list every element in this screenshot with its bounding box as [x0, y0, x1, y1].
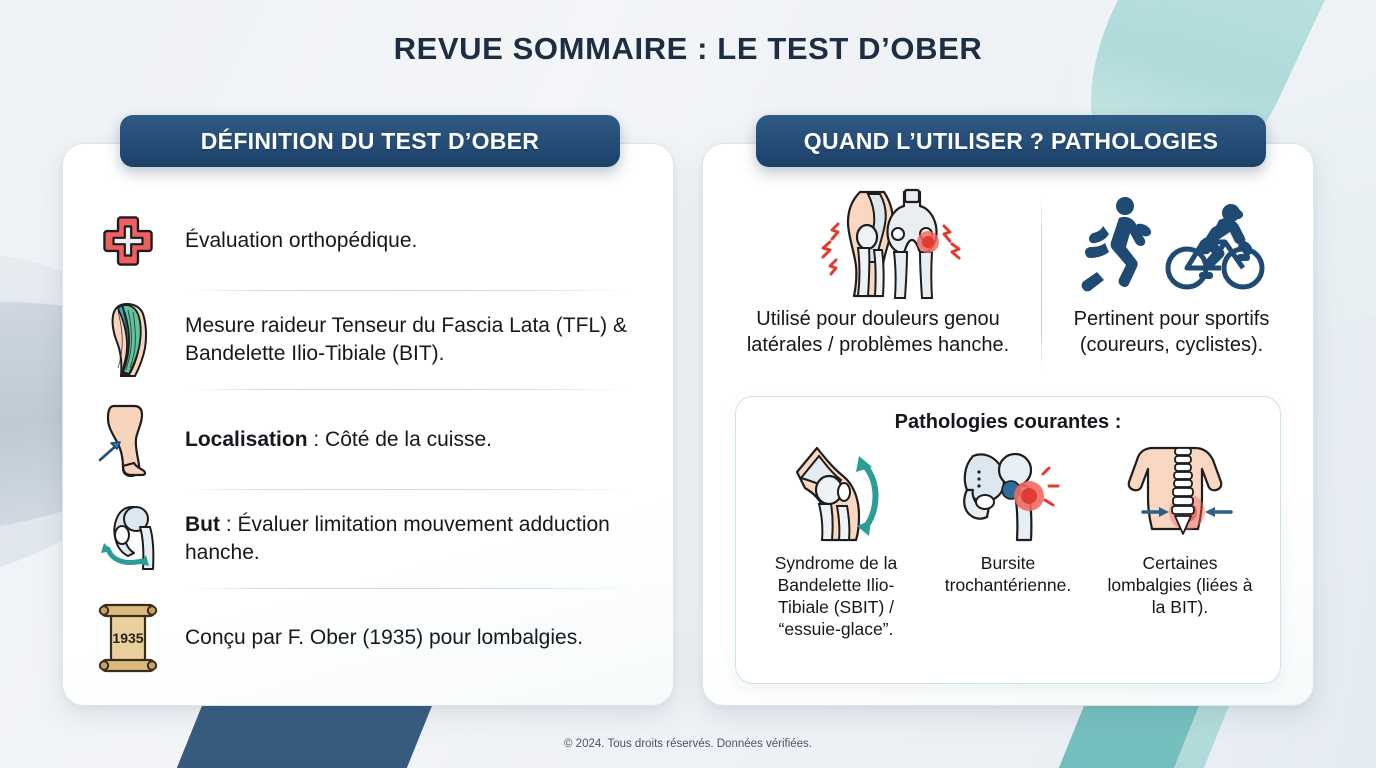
definition-list: Évaluation orthopédique. — [63, 192, 673, 687]
list-item[interactable]: Mesure raideur Tenseur du Fascia Lata (T… — [93, 291, 647, 389]
use-cases-divider — [1041, 196, 1042, 370]
leg-side-arrow-icon — [93, 403, 163, 477]
list-item-label-rest: : Côté de la cuisse. — [308, 428, 492, 451]
pathology-caption: Certaines lombalgies (liées à la BIT). — [1094, 552, 1266, 618]
pathology-item[interactable]: Syndrome de la Bandelette Ilio-Tibiale (… — [750, 440, 922, 668]
pathologies-card: QUAND L’UTILISER ? PATHOLOGIES — [702, 143, 1314, 706]
pathology-caption: Bursite trochantérienne. — [922, 552, 1094, 596]
use-case-icons — [814, 188, 942, 300]
common-pathologies-grid: Syndrome de la Bandelette Ilio-Tibiale (… — [750, 440, 1266, 668]
list-item-label-rest: : Évaluer limitation mouvement adduction… — [185, 513, 610, 564]
list-item-label-bold: But — [185, 513, 220, 536]
common-pathologies-card: Pathologies courantes : — [735, 396, 1281, 684]
list-item-label: Mesure raideur Tenseur du Fascia Lata (T… — [185, 312, 647, 368]
list-item[interactable]: Localisation : Côté de la cuisse. — [93, 390, 647, 488]
definition-card-header: DÉFINITION DU TEST D’OBER — [120, 115, 620, 167]
footer-copyright: © 2024. Tous droits réservés. Données vé… — [0, 738, 1376, 750]
definition-card: DÉFINITION DU TEST D’OBER Évaluation ort… — [62, 143, 674, 706]
use-case-caption: Utilisé pour douleurs genou latérales / … — [729, 306, 1027, 358]
medical-cross-icon — [93, 204, 163, 278]
use-case-caption: Pertinent pour sportifs (coureurs, cycli… — [1056, 306, 1287, 358]
use-cases-area: Utilisé pour douleurs genou latérales / … — [719, 188, 1297, 384]
common-pathologies-title: Pathologies courantes : — [750, 411, 1266, 434]
scroll-1935-icon: 1935 — [93, 601, 163, 675]
knee-itband-motion-icon — [781, 440, 891, 544]
cyclist-icon — [1165, 194, 1265, 294]
use-case-knee-hip[interactable]: Utilisé pour douleurs genou latérales / … — [719, 188, 1037, 358]
thigh-muscle-tfl-icon — [93, 303, 163, 377]
pathology-item[interactable]: Bursite trochantérienne. — [922, 440, 1094, 668]
list-item[interactable]: 1935 Conçu par F. Ober (1935) pour lomba… — [93, 589, 647, 687]
list-item-label: Localisation : Côté de la cuisse. — [185, 426, 492, 454]
low-back-spine-icon — [1125, 440, 1235, 544]
pathology-item[interactable]: Certaines lombalgies (liées à la BIT). — [1094, 440, 1266, 668]
list-item-label: Conçu par F. Ober (1935) pour lombalgies… — [185, 624, 583, 652]
list-item[interactable]: But : Évaluer limitation mouvement adduc… — [93, 490, 647, 588]
use-case-icons — [1079, 188, 1265, 300]
page-title: REVUE SOMMAIRE : LE TEST D’OBER — [0, 31, 1376, 67]
list-item-label: Évaluation orthopédique. — [185, 227, 417, 255]
scroll-year-label: 1935 — [112, 630, 143, 646]
list-item-label: But : Évaluer limitation mouvement adduc… — [185, 511, 647, 567]
trochanteric-bursitis-icon — [953, 440, 1063, 544]
runner-icon — [1079, 194, 1155, 294]
list-item-label-bold: Localisation — [185, 428, 308, 451]
list-item[interactable]: Évaluation orthopédique. — [93, 192, 647, 290]
pathologies-card-header: QUAND L’UTILISER ? PATHOLOGIES — [756, 115, 1266, 167]
hip-joint-rotation-icon — [93, 502, 163, 576]
pathology-caption: Syndrome de la Bandelette Ilio-Tibiale (… — [750, 552, 922, 640]
use-case-athletes[interactable]: Pertinent pour sportifs (coureurs, cycli… — [1046, 188, 1297, 358]
knee-pain-icon — [814, 190, 942, 298]
